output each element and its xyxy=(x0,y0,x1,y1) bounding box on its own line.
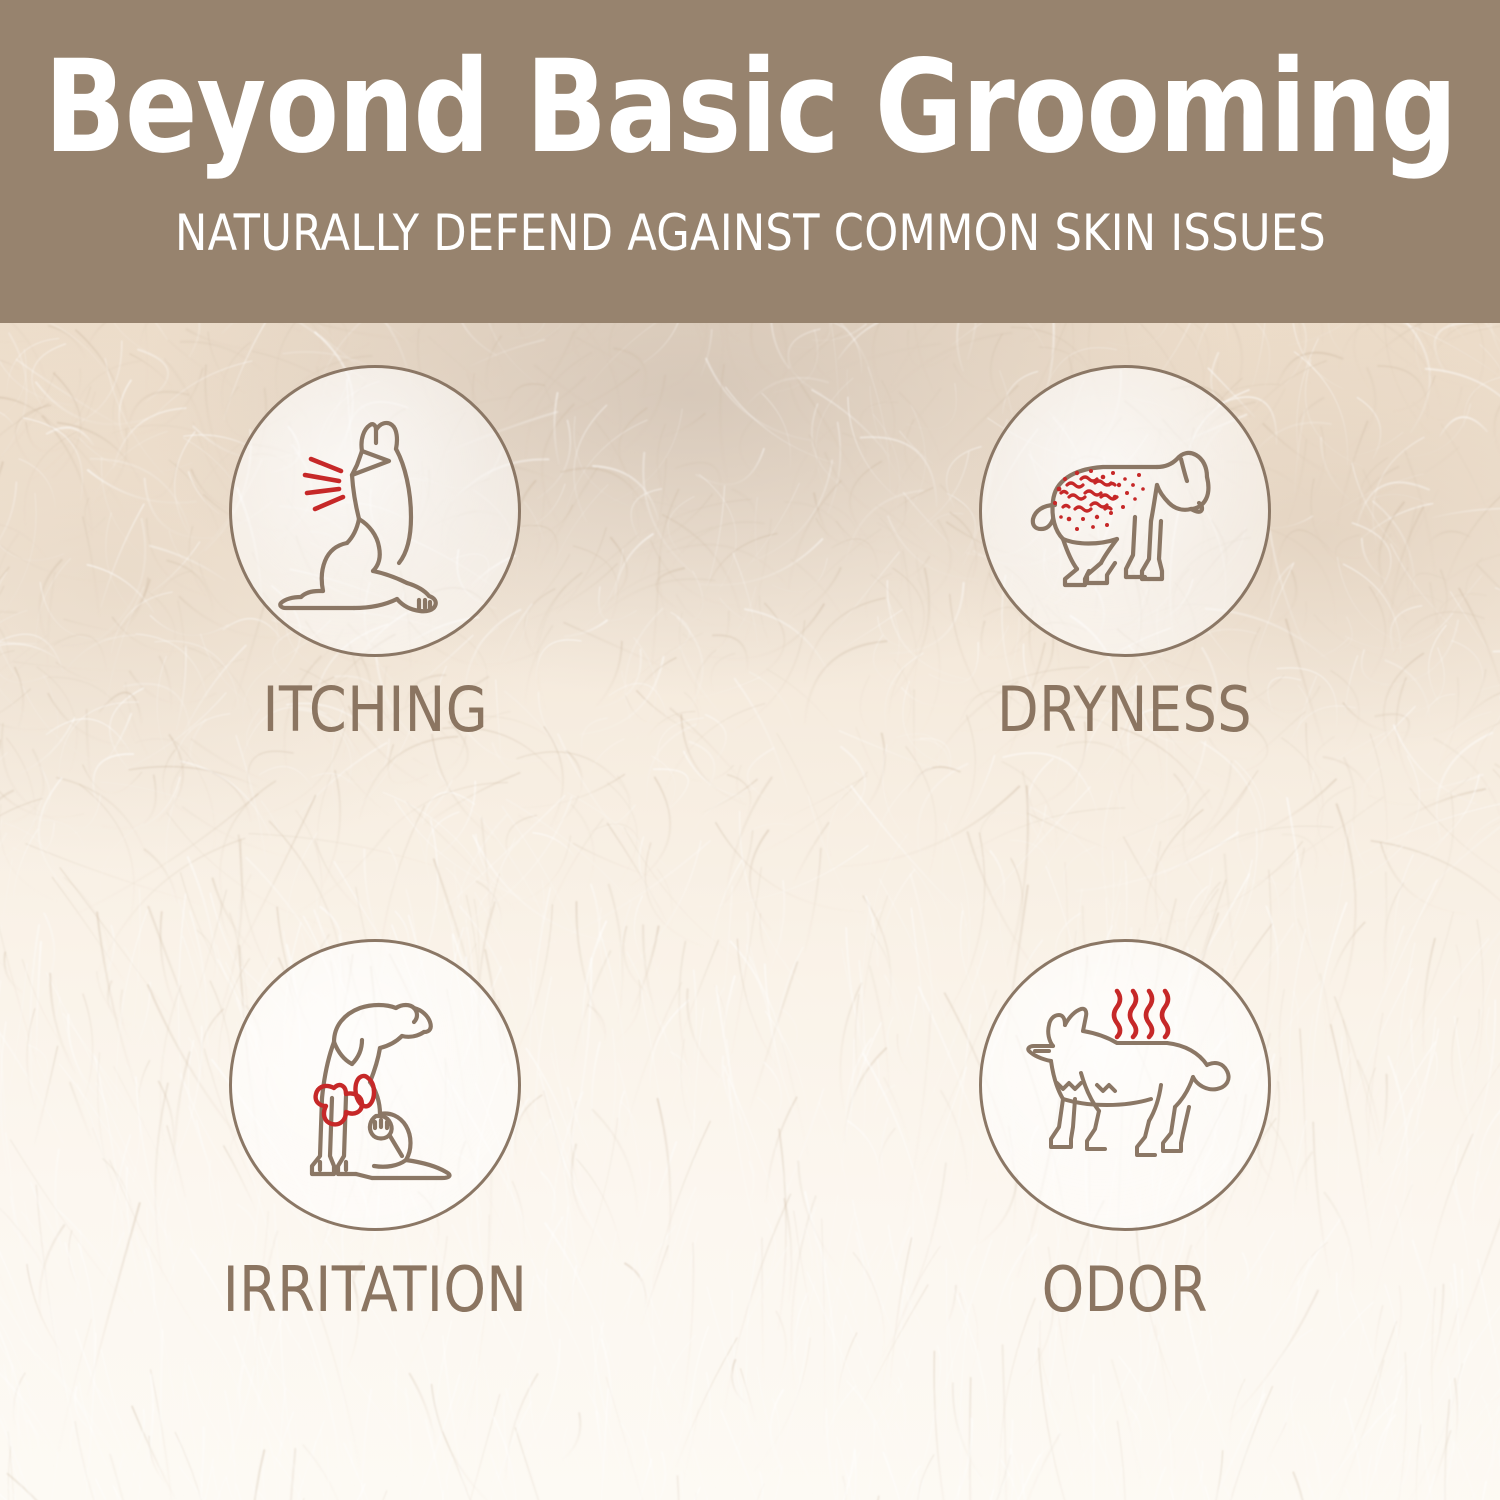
benefit-label-dryness: DRYNESS xyxy=(997,679,1252,741)
dog-scratching-icon xyxy=(229,365,521,657)
page-subtitle: NATURALLY DEFEND AGAINST COMMON SKIN ISS… xyxy=(174,208,1325,258)
benefit-item-odor: ODOR xyxy=(750,912,1500,1500)
benefit-label-odor: ODOR xyxy=(1042,1259,1208,1321)
dog-irritated-patch-icon xyxy=(229,939,521,1231)
header-bar: Beyond Basic Grooming NATURALLY DEFEND A… xyxy=(0,0,1500,323)
infographic-root: Beyond Basic Grooming NATURALLY DEFEND A… xyxy=(0,0,1500,1500)
dog-odor-waves-icon xyxy=(979,939,1271,1231)
benefit-item-itching: ITCHING xyxy=(0,323,750,912)
benefit-label-irritation: IRRITATION xyxy=(223,1259,528,1321)
page-title: Beyond Basic Grooming xyxy=(44,44,1456,172)
benefit-item-dryness: DRYNESS xyxy=(750,323,1500,912)
benefits-grid: ITCHING xyxy=(0,323,1500,1500)
dog-flaky-skin-icon xyxy=(979,365,1271,657)
benefit-label-itching: ITCHING xyxy=(262,679,488,741)
benefit-item-irritation: IRRITATION xyxy=(0,912,750,1500)
